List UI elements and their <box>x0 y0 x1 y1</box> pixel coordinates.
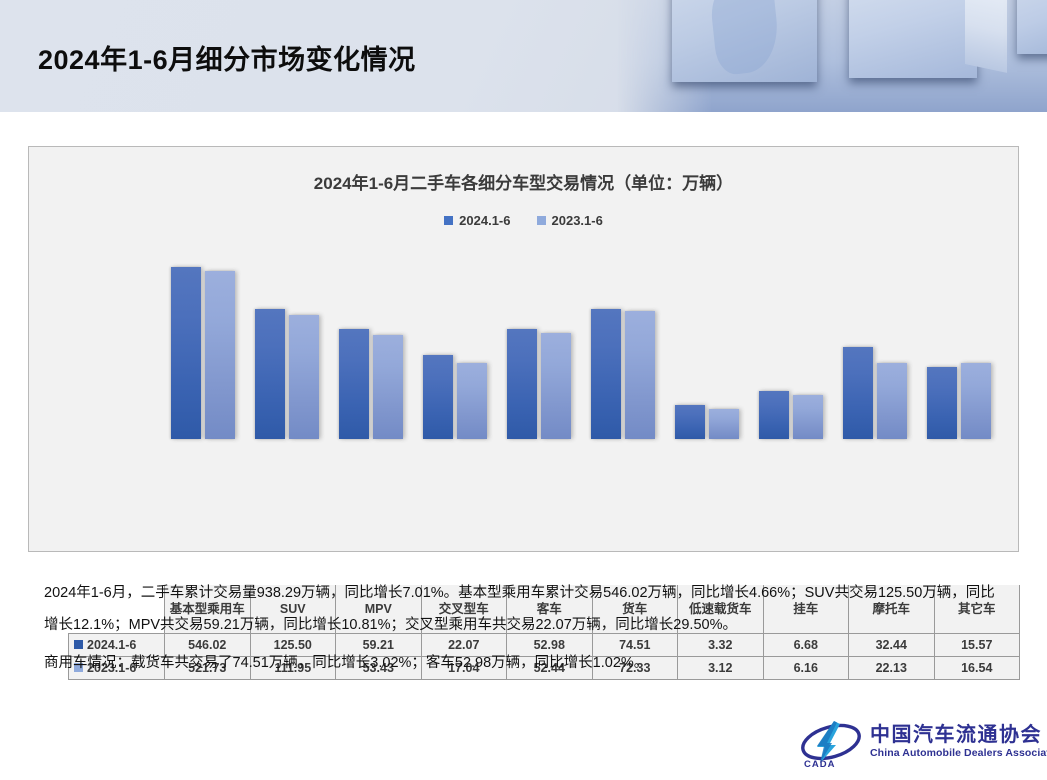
legend-item-2024: 2024.1-6 <box>444 213 510 228</box>
summary-text-block: 2024年1-6月，二手车累计交易量938.29万辆，同比增长7.01%。基本型… <box>44 578 1009 686</box>
cada-logo-text: 中国汽车流通协会 China Automobile Dealers Associ… <box>870 725 1047 759</box>
bar-group <box>329 247 413 439</box>
bar-group <box>581 247 665 439</box>
bar-group <box>413 247 497 439</box>
bar-2024 <box>759 391 789 439</box>
bar-group <box>917 247 1001 439</box>
legend-item-2023: 2023.1-6 <box>537 213 603 228</box>
legend-label-2024: 2024.1-6 <box>459 213 510 228</box>
legend-label-2023: 2023.1-6 <box>552 213 603 228</box>
header-cube-left <box>672 0 817 82</box>
summary-paragraph-2: 商用车情况：载货车共交易了74.51万辆，同比增长3.02%；客车52.98万辆… <box>44 648 1009 680</box>
bar-2023 <box>541 333 571 439</box>
chart-legend: 2024.1-6 2023.1-6 <box>29 213 1018 228</box>
cada-logo-en-name: China Automobile Dealers Association <box>870 748 1047 759</box>
cada-logo-cn-name: 中国汽车流通协会 <box>870 725 1047 745</box>
bar-2024 <box>675 405 705 439</box>
header-cube-right <box>1017 0 1047 54</box>
bar-2023 <box>793 395 823 439</box>
bar-group <box>665 247 749 439</box>
bar-2023 <box>709 409 739 439</box>
bar-2024 <box>591 309 621 439</box>
chart-title: 2024年1-6月二手车各细分车型交易情况（单位：万辆） <box>29 169 1018 194</box>
bar-2023 <box>625 311 655 439</box>
bar-groups-container <box>161 247 1001 439</box>
cada-abbr-text: CADA <box>804 759 835 770</box>
legend-swatch-2023 <box>537 216 546 225</box>
bar-2023 <box>205 271 235 439</box>
bar-2023 <box>457 363 487 439</box>
bar-2024 <box>423 355 453 439</box>
page-header: 2024年1-6月细分市场变化情况 <box>0 0 1047 112</box>
bar-2023 <box>373 335 403 439</box>
bar-2024 <box>843 347 873 439</box>
header-cube-middle-face <box>849 0 977 78</box>
bar-2023 <box>877 363 907 439</box>
bar-2023 <box>289 315 319 439</box>
cada-logo: CADA 中国汽车流通协会 China Automobile Dealers A… <box>800 712 1032 772</box>
summary-paragraph-1: 2024年1-6月，二手车累计交易量938.29万辆，同比增长7.01%。基本型… <box>44 578 1009 642</box>
bar-2024 <box>255 309 285 439</box>
bar-chart-plot-area <box>39 247 1010 439</box>
header-cube-middle-side <box>965 0 1007 73</box>
bar-2024 <box>507 329 537 439</box>
bar-group <box>161 247 245 439</box>
bar-2024 <box>171 267 201 439</box>
header-decorative-cubes-image <box>617 0 1047 112</box>
bar-2023 <box>961 363 991 439</box>
page-title: 2024年1-6月细分市场变化情况 <box>38 38 416 77</box>
bar-group <box>833 247 917 439</box>
bar-2024 <box>339 329 369 439</box>
chart-card: 2024年1-6月二手车各细分车型交易情况（单位：万辆） 2024.1-6 20… <box>28 146 1019 552</box>
cada-logo-mark-icon: CADA <box>800 715 862 769</box>
bar-2024 <box>927 367 957 439</box>
legend-swatch-2024 <box>444 216 453 225</box>
bar-group <box>245 247 329 439</box>
bar-group <box>497 247 581 439</box>
bar-group <box>749 247 833 439</box>
